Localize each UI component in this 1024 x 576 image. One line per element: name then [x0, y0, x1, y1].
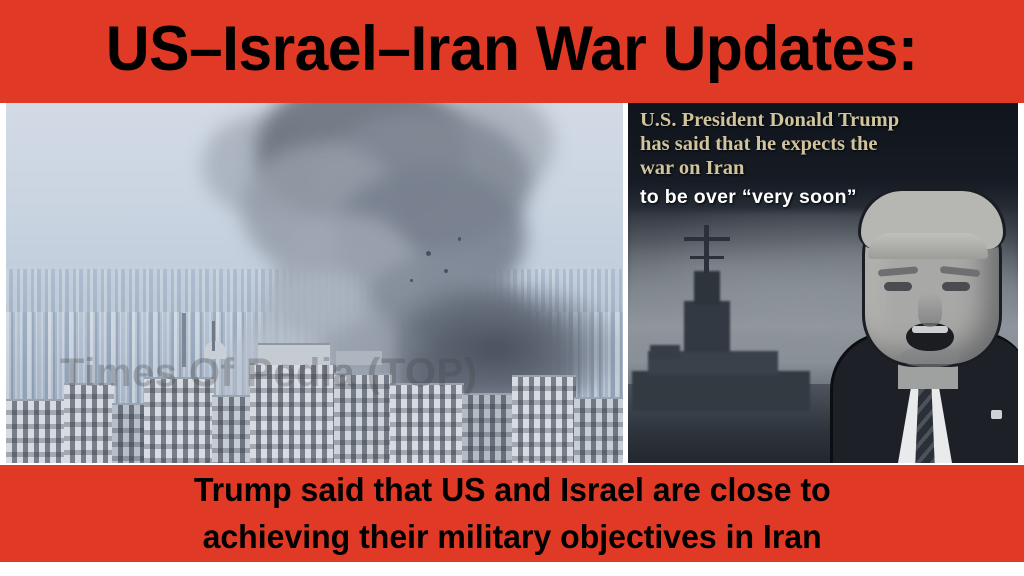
overlay-serif-line-1: U.S. President Donald Trump — [640, 109, 990, 133]
explosion-photo — [6, 103, 623, 463]
debris-speck — [458, 237, 461, 241]
photo-overlay-caption: U.S. President Donald Trump has said tha… — [640, 109, 990, 210]
overlay-sans-line: to be over “very soon” — [640, 186, 990, 209]
antenna-mast — [212, 321, 215, 351]
warship-yardarm — [690, 256, 724, 259]
building — [390, 383, 464, 463]
caption-band: Trump said that US and Israel are close … — [0, 465, 1024, 562]
hair-sweep — [868, 233, 988, 259]
foreground-buildings — [6, 353, 623, 463]
debris-speck — [426, 251, 431, 256]
warship-superstructure — [684, 301, 730, 353]
building — [250, 363, 336, 463]
building — [6, 399, 66, 463]
left-eye — [884, 282, 912, 291]
warship-yardarm — [684, 237, 730, 241]
debris-speck — [410, 279, 413, 282]
title-band: US–Israel–Iran War Updates: — [0, 0, 1024, 103]
caption-line-1: Trump said that US and Israel are close … — [194, 467, 831, 514]
rooftop-structure — [336, 351, 382, 365]
warship-hull — [632, 371, 810, 411]
building — [212, 395, 252, 463]
warship-mast — [704, 225, 709, 273]
overlay-serif-line-2: has said that he expects the — [640, 133, 990, 157]
news-graphic: US–Israel–Iran War Updates: — [0, 0, 1024, 576]
building — [112, 403, 148, 463]
building — [462, 393, 514, 463]
warship-gun-turret — [650, 345, 680, 359]
right-eye — [942, 282, 970, 291]
warship-bridge — [694, 271, 720, 305]
rooftop-dome — [204, 341, 226, 359]
caption-line-2: achieving their military objectives in I… — [202, 514, 821, 561]
nose — [918, 293, 942, 327]
teeth — [912, 326, 948, 333]
building — [144, 377, 214, 463]
footer-whitespace — [0, 562, 1024, 576]
flag-lapel-pin-icon — [991, 410, 1002, 419]
building — [512, 375, 576, 463]
trump-cutout — [824, 173, 1018, 463]
building — [334, 373, 392, 463]
rooftop-structure — [258, 343, 330, 365]
building — [574, 397, 623, 463]
overlay-serif-line-3: war on Iran — [640, 157, 990, 181]
trump-warship-photo: U.S. President Donald Trump has said tha… — [628, 103, 1018, 463]
antenna-mast — [182, 313, 186, 367]
photo-strip: U.S. President Donald Trump has said tha… — [0, 103, 1024, 465]
debris-speck — [444, 269, 448, 273]
building — [64, 383, 114, 463]
page-title: US–Israel–Iran War Updates: — [106, 18, 918, 85]
